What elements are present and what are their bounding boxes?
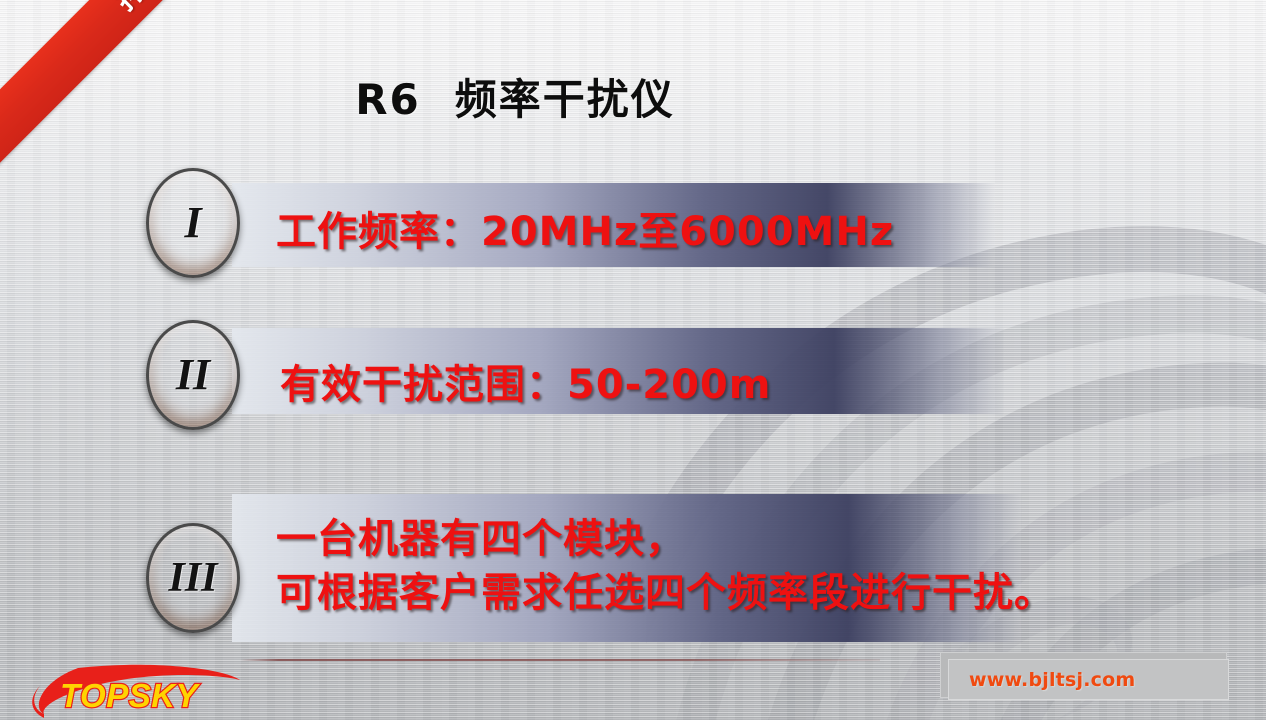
- numeral-badge-1-label: I: [184, 201, 201, 245]
- numeral-badge-2-label: II: [176, 353, 210, 397]
- feature-text-3-line-1: 一台机器有四个模块，: [276, 512, 1055, 566]
- topsky-logo: TOPSKY: [18, 662, 248, 720]
- website-plate: www.bjltsj.com: [940, 652, 1230, 700]
- footer-divider: [240, 659, 880, 661]
- svg-text:TOPSKY: TOPSKY: [60, 677, 201, 714]
- feature-text-1: 工作频率：20MHz至6000MHz: [276, 199, 894, 257]
- numeral-badge-1: I: [146, 168, 240, 278]
- numeral-badge-2: II: [146, 320, 240, 430]
- numeral-badge-3-label: III: [168, 557, 217, 599]
- page-title: R6频率干扰仪: [0, 66, 1030, 127]
- feature-text-3-line-2: 可根据客户需求任选四个频率段进行干扰。: [276, 566, 1055, 620]
- website-plate-box[interactable]: www.bjltsj.com: [948, 659, 1229, 700]
- feature-text-2: 有效干扰范围：50-200m: [280, 352, 771, 410]
- slide-canvas: 排爆 R6频率干扰仪 I 工作频率：20MHz至6000MHz II 有效干扰范…: [0, 0, 1266, 720]
- ribbon-label: 排爆: [102, 0, 194, 24]
- feature-text-3: 一台机器有四个模块， 可根据客户需求任选四个频率段进行干扰。: [276, 512, 1055, 620]
- title-text: 频率干扰仪: [455, 75, 675, 124]
- numeral-badge-3: III: [146, 523, 240, 633]
- website-url[interactable]: www.bjltsj.com: [969, 669, 1135, 691]
- title-code: R6: [355, 75, 421, 124]
